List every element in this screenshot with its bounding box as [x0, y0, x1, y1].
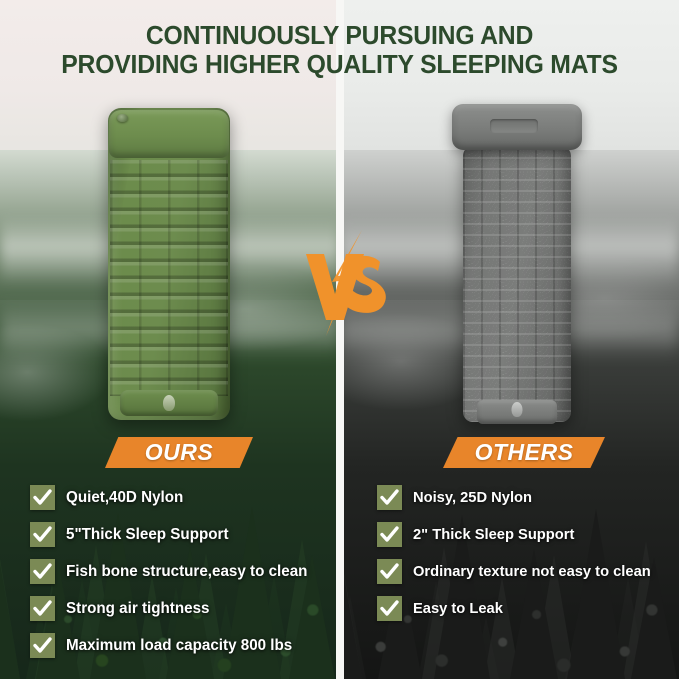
- green-mat-valve-icon: [117, 114, 128, 122]
- feature-row: Noisy, 25D Nylon: [377, 484, 656, 511]
- check-icon: [30, 596, 55, 621]
- gray-mat-body: [463, 146, 571, 422]
- ribbon-others: OTHERS: [443, 437, 605, 468]
- feature-label: Easy to Leak: [413, 600, 503, 617]
- feature-list-ours: Quiet,40D Nylon 5"Thick Sleep Support Fi…: [30, 484, 312, 669]
- feature-row: Ordinary texture not easy to clean: [377, 558, 656, 585]
- feature-label: 2" Thick Sleep Support: [413, 526, 574, 543]
- green-mat-body: [108, 108, 230, 420]
- feature-row: 5"Thick Sleep Support: [30, 521, 312, 548]
- gray-sleeping-mat-image: [455, 104, 579, 422]
- feature-label: Maximum load capacity 800 lbs: [66, 637, 292, 654]
- page-title-line-2: PROVIDING HIGHER QUALITY SLEEPING MATS: [10, 51, 669, 80]
- panel-divider: [336, 0, 344, 679]
- feature-label: Noisy, 25D Nylon: [413, 489, 532, 506]
- gray-mat-logo: [512, 402, 523, 417]
- feature-row: Fish bone structure,easy to clean: [30, 558, 312, 585]
- feature-row: Quiet,40D Nylon: [30, 484, 312, 511]
- feature-list-others: Noisy, 25D Nylon 2" Thick Sleep Support …: [377, 484, 656, 632]
- check-icon: [377, 559, 402, 584]
- check-icon: [377, 485, 402, 510]
- check-icon: [30, 559, 55, 584]
- versus-badge: [302, 228, 388, 338]
- feature-label: Quiet,40D Nylon: [66, 489, 183, 506]
- feature-row: Maximum load capacity 800 lbs: [30, 632, 312, 659]
- feature-row: Strong air tightness: [30, 595, 312, 622]
- check-icon: [377, 522, 402, 547]
- feature-label: Ordinary texture not easy to clean: [413, 563, 651, 580]
- page-title: CONTINUOUSLY PURSUING AND PROVIDING HIGH…: [10, 22, 669, 80]
- gray-mat-cell-pattern-overlay: [463, 146, 571, 422]
- feature-label: Fish bone structure,easy to clean: [66, 563, 307, 580]
- page-title-line-1: CONTINUOUSLY PURSUING AND: [10, 22, 669, 51]
- feature-row: Easy to Leak: [377, 595, 656, 622]
- feature-label: 5"Thick Sleep Support: [66, 526, 229, 543]
- check-icon: [30, 633, 55, 658]
- comparison-infographic: CONTINUOUSLY PURSUING AND PROVIDING HIGH…: [0, 0, 679, 679]
- green-mat-ribs: [110, 160, 228, 396]
- ribbon-ours: OURS: [105, 437, 253, 468]
- green-sleeping-mat-image: [108, 108, 230, 420]
- green-mat-logo: [163, 395, 175, 411]
- gray-mat-pillow: [452, 104, 582, 150]
- check-icon: [377, 596, 402, 621]
- check-icon: [30, 485, 55, 510]
- vs-text-glyph: [306, 254, 386, 320]
- check-icon: [30, 522, 55, 547]
- feature-label: Strong air tightness: [66, 600, 209, 617]
- feature-row: 2" Thick Sleep Support: [377, 521, 656, 548]
